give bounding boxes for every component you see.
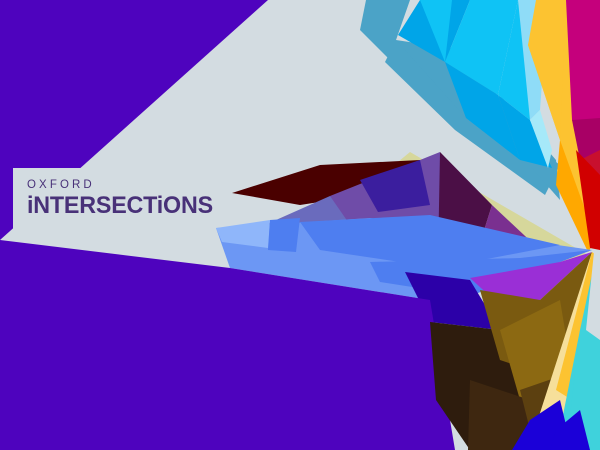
brand-logo-intersections-text: iNTERSECTiONS <box>27 194 213 219</box>
title-card: OXFORD iNTERSECTiONS <box>0 0 600 450</box>
brand-logo-plate: OXFORD iNTERSECTiONS <box>13 168 207 230</box>
brand-logo-oxford-text: OXFORD <box>27 180 95 192</box>
blue-sliver-b <box>268 218 300 252</box>
